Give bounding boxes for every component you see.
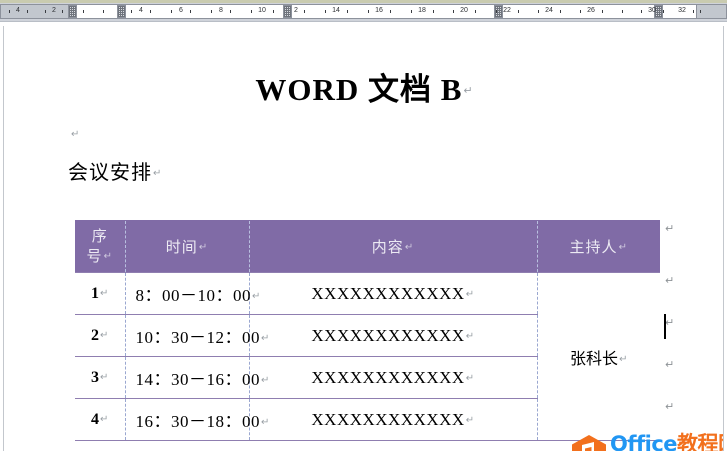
cell-content-text: XXXXXXXXXXXX — [311, 326, 464, 345]
cell-time-text: 8：00－10：00 — [136, 286, 252, 305]
pilcrow-icon: ↵ — [99, 372, 108, 383]
cell-content[interactable]: XXXXXXXXXXXX↵ — [249, 273, 537, 315]
pilcrow-icon: ↵ — [465, 415, 475, 426]
ruler-tick: 2 — [294, 7, 298, 15]
cell-host-merged[interactable]: 张科长↵ — [537, 273, 660, 441]
cell-no[interactable]: 3↵ — [75, 357, 125, 399]
pilcrow-icon: ↵ — [198, 242, 208, 253]
word-document-view: 4 2 4 6 8 10 2 — [0, 0, 727, 451]
cell-time[interactable]: 10：30－12：00↵ — [125, 315, 249, 357]
cell-time[interactable]: 16：30－18：00↵ — [125, 399, 249, 441]
cell-time[interactable]: 14：30－16：00↵ — [125, 357, 249, 399]
table-row[interactable]: 1↵ 8：00－10：00↵ XXXXXXXXXXXX↵ 张科长↵ — [75, 273, 660, 315]
cell-content[interactable]: XXXXXXXXXXXX↵ — [249, 315, 537, 357]
cell-no[interactable]: 1↵ — [75, 273, 125, 315]
section-heading[interactable]: 会议安排↵ — [68, 156, 162, 185]
cell-content[interactable]: XXXXXXXXXXXX↵ — [249, 357, 537, 399]
ruler-tick: 16 — [375, 7, 383, 15]
pilcrow-icon: ↵ — [260, 417, 270, 428]
pilcrow-icon: ↵ — [152, 168, 162, 179]
ruler-tick: 20 — [460, 7, 468, 15]
table-header-cell-host[interactable]: 主持人↵ — [537, 221, 660, 273]
cell-time[interactable]: 8：00－10：00↵ — [125, 273, 249, 315]
ruler-tick: 18 — [418, 7, 426, 15]
pilcrow-icon: ↵ — [99, 330, 108, 341]
row-pilcrow-icon: ↵ — [665, 274, 674, 287]
pilcrow-icon: ↵ — [465, 373, 475, 384]
ruler-tick: 22 — [503, 7, 511, 15]
cell-content-text: XXXXXXXXXXXX — [311, 284, 464, 303]
text-cursor — [664, 314, 666, 339]
ruler-tick: 24 — [545, 7, 553, 15]
table-header-cell-time[interactable]: 时间↵ — [125, 221, 249, 273]
pilcrow-icon: ↵ — [618, 354, 627, 365]
pilcrow-icon: ↵ — [99, 414, 108, 425]
watermark-brand-cn: 教程网 — [677, 432, 724, 451]
ruler-tick: 10 — [258, 7, 266, 15]
row-pilcrow-icon: ↵ — [665, 316, 674, 329]
page-title[interactable]: WORD 文档 B↵ — [4, 64, 724, 109]
watermark-brand: Office教程网 — [610, 432, 724, 451]
table-header-row: 序 号↵ 时间↵ 内容↵ 主持人↵ — [75, 221, 660, 273]
table-header-content-text: 内容 — [372, 238, 404, 256]
ruler-tick: 4 — [16, 7, 20, 15]
cell-no-text: 4 — [91, 411, 99, 428]
meeting-schedule-table[interactable]: 序 号↵ 时间↵ 内容↵ 主持人↵ — [75, 220, 660, 441]
cell-content[interactable]: XXXXXXXXXXXX↵ — [249, 399, 537, 441]
section-heading-text: 会议安排 — [68, 160, 152, 184]
cell-time-text: 10：30－12：00 — [136, 328, 261, 347]
cell-no-text: 2 — [91, 327, 99, 344]
ruler-tick: 6 — [179, 7, 183, 15]
cell-no[interactable]: 2↵ — [75, 315, 125, 357]
ruler-tick: 8 — [219, 7, 223, 15]
horizontal-ruler[interactable]: 4 2 4 6 8 10 2 — [0, 0, 727, 22]
row-pilcrow-icon: ↵ — [665, 400, 674, 413]
cell-no[interactable]: 4↵ — [75, 399, 125, 441]
ruler-tick: 26 — [587, 7, 595, 15]
table-header-host-text: 主持人 — [570, 238, 618, 256]
watermark-brand-en: Office — [610, 432, 677, 451]
pilcrow-icon: ↵ — [251, 291, 261, 302]
pilcrow-icon: ↵ — [404, 242, 414, 253]
pilcrow-icon: ↵ — [260, 375, 270, 386]
ruler-tick: 4 — [139, 7, 143, 15]
pilcrow-icon: ↵ — [465, 289, 475, 300]
ruler-tick: 2 — [52, 7, 56, 15]
ruler-top-strip — [0, 0, 727, 3]
pilcrow-icon: ↵ — [103, 251, 113, 262]
site-watermark-logo: Office教程网 www.office26.com — [570, 432, 724, 451]
table-header-cell-no[interactable]: 序 号↵ — [75, 221, 125, 273]
pilcrow-icon: ↵ — [618, 242, 628, 253]
cell-no-text: 1 — [91, 285, 99, 302]
row-pilcrow-icon: ↵ — [665, 222, 674, 235]
office-hexagon-icon — [570, 434, 608, 451]
row-pilcrow-icon: ↵ — [665, 358, 674, 371]
table-header-time-text: 时间 — [166, 238, 198, 256]
pilcrow-icon: ↵ — [260, 333, 270, 344]
empty-paragraph[interactable]: ↵ — [70, 129, 79, 142]
cell-content-text: XXXXXXXXXXXX — [311, 410, 464, 429]
pilcrow-icon: ↵ — [99, 288, 108, 299]
pilcrow-icon: ↵ — [465, 331, 475, 342]
table-header-no-line1: 序 — [92, 227, 108, 245]
pilcrow-icon: ↵ — [462, 84, 473, 97]
ruler-tick-labels: 4 2 4 6 8 10 2 — [0, 4, 727, 19]
pilcrow-icon: ↵ — [70, 129, 79, 140]
page-title-text: WORD 文档 B — [255, 72, 462, 107]
cell-time-text: 16：30－18：00 — [136, 412, 261, 431]
cell-no-text: 3 — [91, 369, 99, 386]
ruler-tick: 32 — [678, 7, 686, 15]
ruler-track[interactable]: 4 2 4 6 8 10 2 — [0, 4, 727, 20]
cell-content-text: XXXXXXXXXXXX — [311, 368, 464, 387]
table-header-no-line2: 号 — [87, 247, 103, 265]
ruler-tick: 30 — [648, 7, 656, 15]
cell-time-text: 14：30－16：00 — [136, 370, 261, 389]
cell-host-text: 张科长 — [570, 349, 618, 368]
ruler-tick: 14 — [332, 7, 340, 15]
document-page[interactable]: WORD 文档 B↵ ↵ 会议安排↵ 序 — [3, 26, 724, 451]
table-header-cell-content[interactable]: 内容↵ — [249, 221, 537, 273]
